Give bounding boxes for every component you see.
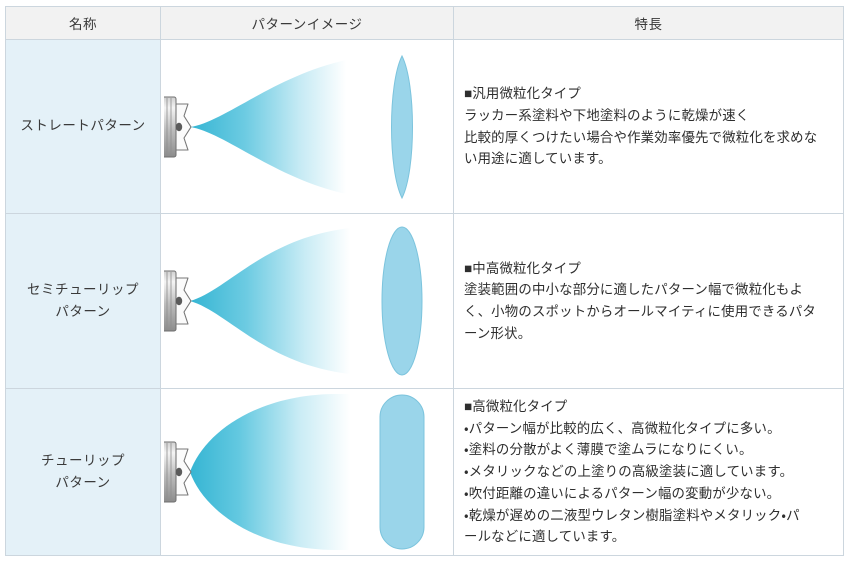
table-row: セミチューリップ パターン: [6, 214, 844, 389]
narrow-spray-fan: [190, 60, 346, 194]
feature-line: ・パターン幅が比較的広く、高微粒化タイプに多い。: [464, 418, 835, 440]
wide-spray-fan: [190, 394, 350, 550]
feature-line: 比較的厚くつけたい場合や作業効率優先で微粒化を求めな: [464, 127, 835, 149]
pattern-name-cell: チューリップ パターン: [6, 389, 161, 556]
feature-body: 塗装範囲の中小な部分に適したパターン幅で微粒化もよ く、小物のスポットからオール…: [464, 279, 835, 344]
feature-line: 塗装範囲の中小な部分に適したパターン幅で微粒化もよ: [464, 279, 835, 301]
feature-line: ーン形状。: [464, 323, 835, 345]
feature-heading: ■中高微粒化タイプ: [464, 258, 835, 280]
spray-nozzle-icon: [164, 271, 191, 331]
table-row: チューリップ パターン: [6, 389, 844, 556]
table-row: ストレートパターン: [6, 40, 844, 214]
feature-line: く、小物のスポットからオールマイティに使用できるパタ: [464, 301, 835, 323]
pattern-name-line: チューリップ: [6, 450, 160, 472]
pattern-name-cell: セミチューリップ パターン: [6, 214, 161, 389]
feature-line: い用途に適しています。: [464, 148, 835, 170]
pattern-comparison-page: 名称 パターンイメージ 特長 ストレートパターン: [0, 6, 848, 568]
pattern-name-line: ストレートパターン: [6, 115, 160, 137]
table-body: ストレートパターン: [6, 40, 844, 556]
pattern-image-cell: [161, 40, 454, 214]
stadium-footprint: [380, 395, 424, 549]
column-header-pattern-image: パターンイメージ: [161, 7, 454, 40]
feature-heading: ■高微粒化タイプ: [464, 396, 835, 418]
pattern-feature-cell: ■中高微粒化タイプ 塗装範囲の中小な部分に適したパターン幅で微粒化もよ く、小物…: [454, 214, 844, 389]
pattern-image-cell: [161, 214, 454, 389]
pattern-name-line: パターン: [6, 472, 160, 494]
spray-pattern-table: 名称 パターンイメージ 特長 ストレートパターン: [5, 6, 844, 556]
spray-nozzle-icon: [164, 97, 191, 157]
pattern-feature-cell: ■汎用微粒化タイプ ラッカー系塗料や下地塗料のように乾燥が速く 比較的厚くつけた…: [454, 40, 844, 214]
table-header-row: 名称 パターンイメージ 特長: [6, 7, 844, 40]
feature-line: ・メタリックなどの上塗りの高級塗装に適しています。: [464, 461, 835, 483]
feature-heading: ■汎用微粒化タイプ: [464, 83, 835, 105]
feature-line: ・吹付距離の違いによるパターン幅の変動が少ない。: [464, 483, 835, 505]
medium-spray-fan: [190, 228, 350, 374]
spray-nozzle-icon: [164, 442, 191, 502]
oval-footprint: [382, 227, 422, 375]
feature-line: ・塗料の分散がよく薄膜で塗ムラになりにくい。: [464, 439, 835, 461]
feature-body: ラッカー系塗料や下地塗料のように乾燥が速く 比較的厚くつけたい場合や作業効率優先…: [464, 105, 835, 170]
pattern-feature-cell: ■高微粒化タイプ ・パターン幅が比較的広く、高微粒化タイプに多い。 ・塗料の分散…: [454, 389, 844, 556]
pattern-image-cell: [161, 389, 454, 556]
pattern-name-cell: ストレートパターン: [6, 40, 161, 214]
column-header-feature: 特長: [454, 7, 844, 40]
feature-line: ラッカー系塗料や下地塗料のように乾燥が速く: [464, 105, 835, 127]
feature-line: ールなどに適しています。: [464, 526, 835, 548]
table-header: 名称 パターンイメージ 特長: [6, 7, 844, 40]
spray-pattern-semi-tulip-diagram: [164, 216, 450, 386]
spray-pattern-straight-diagram: [164, 42, 450, 212]
feature-body: ・パターン幅が比較的広く、高微粒化タイプに多い。 ・塗料の分散がよく薄膜で塗ムラ…: [464, 418, 835, 548]
spray-pattern-tulip-diagram: [164, 389, 450, 555]
column-header-name: 名称: [6, 7, 161, 40]
pattern-name-line: セミチューリップ: [6, 279, 160, 301]
narrow-lens-footprint: [392, 56, 413, 198]
pattern-name-line: パターン: [6, 301, 160, 323]
feature-line: ・乾燥が遅めの二液型ウレタン樹脂塗料やメタリック・パ: [464, 505, 835, 527]
